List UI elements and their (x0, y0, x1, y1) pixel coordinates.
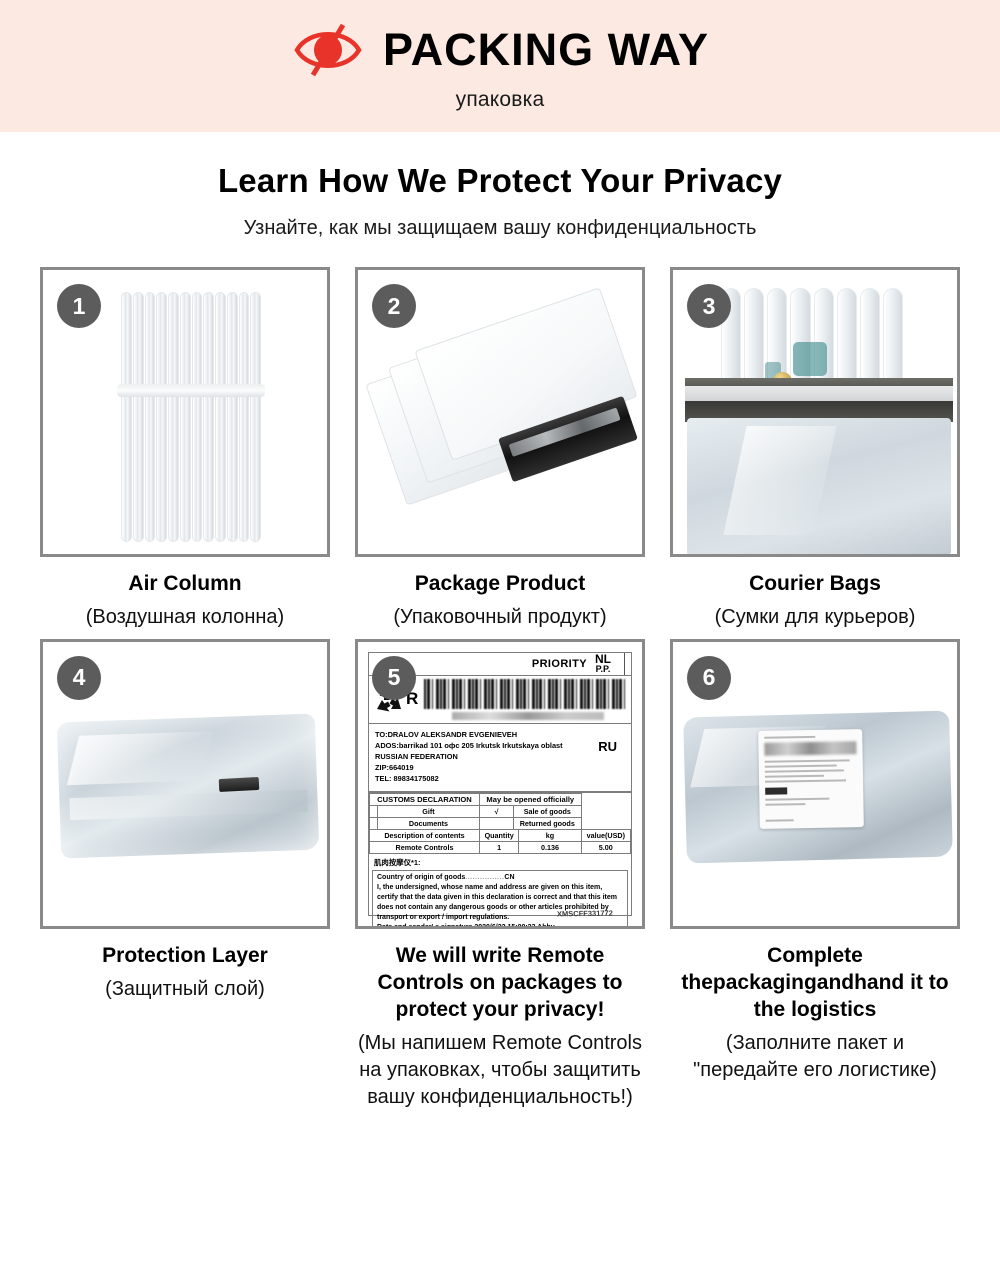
step-badge-5: 5 (372, 656, 416, 700)
declaration-line-2: certify that the data given in this decl… (377, 893, 623, 903)
label-address-row: TO:DRALOV ALEKSANDR EVGENIEVEH ADOS:barr… (369, 724, 631, 793)
step-badge-2: 2 (372, 284, 416, 328)
step-title-ru-1: (Воздушная колонна) (42, 604, 328, 631)
step-card-6: 6 (670, 639, 960, 929)
brand-title: PACKING WAY (383, 27, 709, 72)
table-row: Gift √ Sale of goods (370, 806, 631, 818)
item-quantity: 1 (479, 842, 518, 854)
tracking-overlay: XMSCFF331772 (557, 909, 613, 921)
recipient-name: TO:DRALOV ALEKSANDR EVGENIEVEH (375, 729, 594, 740)
item-description: Remote Controls (370, 842, 480, 854)
step-title-ru-2: (Упаковочный продукт) (357, 604, 643, 631)
page-header: PACKING WAY упаковка (0, 0, 1000, 132)
table-row: CUSTOMS DECLARATION May be opened offici… (370, 794, 631, 806)
gift-label: Gift (378, 806, 480, 818)
origin-label: Country of origin of goods (377, 874, 465, 881)
origin-dots: ................ (465, 874, 504, 881)
packing-way-infographic: PACKING WAY упаковка Learn How We Protec… (0, 0, 1000, 1284)
step-cell-3: 3 Courier Bags (Сумки для (670, 267, 960, 631)
step-badge-3: 3 (687, 284, 731, 328)
recipient-tel: TEL: 89834175082 (375, 773, 594, 784)
step-title-ru-6: (Заполните пакет и "передайте его логист… (672, 1030, 958, 1084)
step-cell-4: 4 Protection Layer (Защитный слой) (40, 639, 330, 1111)
step-card-5: 5 PRIORITY NL P.P. (355, 639, 645, 929)
col-quantity: Quantity (479, 830, 518, 842)
declaration-fine-print: Country of origin of goods..............… (372, 870, 628, 928)
recipient-zip: ZIP:664019 (375, 762, 594, 773)
table-row: Remote Controls 1 0.136 5.00 (370, 842, 631, 854)
table-row: Documents Returned goods (370, 818, 631, 830)
table-row: Description of contents Quantity kg valu… (370, 830, 631, 842)
documents-label: Documents (378, 818, 480, 830)
barcode-area (424, 679, 626, 720)
step-title-en-6: Complete thepackagingandhand it to the l… (672, 943, 958, 1024)
barcode-number-blurred (452, 712, 604, 720)
recipient-address: ADOS:barrikad 101 офс 205 Irkutsk Irkuts… (375, 740, 594, 762)
step-cell-2: 2 Package Product (Упаковочный продукт) (355, 267, 645, 631)
step-caption-5: We will write Remote Controls on package… (355, 929, 645, 1111)
step-card-3: 3 (670, 267, 960, 557)
ru-country-code: RU (594, 729, 625, 785)
applied-shipping-label (758, 729, 864, 829)
step-badge-6: 6 (687, 656, 731, 700)
customs-title: CUSTOMS DECLARATION (370, 794, 480, 806)
step-badge-4: 4 (57, 656, 101, 700)
step-title-ru-3: (Сумки для курьеров) (672, 604, 958, 631)
step-card-1: 1 (40, 267, 330, 557)
item-value: 5.00 (581, 842, 630, 854)
step-badge-1: 1 (57, 284, 101, 328)
chinese-item-note: 肌肉按摩仪*1: (369, 854, 631, 870)
may-be-opened: May be opened officially (479, 794, 581, 806)
intro-block: Learn How We Protect Your Privacy Узнайт… (0, 132, 1000, 240)
signature-line: Date and sender' s signature 2020/6/22 1… (377, 923, 623, 929)
customs-declaration-table: CUSTOMS DECLARATION May be opened offici… (369, 793, 631, 854)
col-kg: kg (519, 830, 581, 842)
step-cell-5: 5 PRIORITY NL P.P. (355, 639, 645, 1111)
steps-grid: 1 (40, 267, 960, 1111)
item-kg: 0.136 (519, 842, 581, 854)
no-eye-privacy-icon (291, 21, 365, 79)
nl-pp-block: NL P.P. (595, 653, 611, 675)
col-description: Description of contents (370, 830, 480, 842)
step-caption-1: Air Column (Воздушная колонна) (40, 557, 330, 631)
step-title-en-1: Air Column (42, 571, 328, 598)
step-caption-4: Protection Layer (Защитный слой) (40, 929, 330, 1003)
gift-checkmark: √ (479, 806, 513, 818)
step-caption-6: Complete thepackagingandhand it to the l… (670, 929, 960, 1084)
barcode-icon (424, 679, 626, 709)
declaration-line-1: I, the undersigned, whose name and addre… (377, 883, 623, 893)
page-title: Learn How We Protect Your Privacy (0, 162, 1000, 200)
pp-code: P.P. (595, 665, 611, 674)
step-title-ru-4: (Защитный слой) (42, 976, 328, 1003)
origin-line: Country of origin of goods..............… (377, 873, 623, 883)
step-caption-3: Courier Bags (Сумки для курьеров) (670, 557, 960, 631)
label-divider (624, 653, 625, 675)
step-title-en-2: Package Product (357, 571, 643, 598)
step-title-ru-5: (Мы напишем Remote Controls на упаковках… (357, 1030, 643, 1111)
address-block: TO:DRALOV ALEKSANDR EVGENIEVEH ADOS:barr… (375, 729, 594, 785)
returned-goods-label: Returned goods (513, 818, 581, 830)
step-title-en-4: Protection Layer (42, 943, 328, 970)
brand-subtitle: упаковка (456, 88, 545, 112)
step-card-4: 4 (40, 639, 330, 929)
sale-of-goods-label: Sale of goods (513, 806, 581, 818)
page-subtitle: Узнайте, как мы защищаем вашу конфиденци… (0, 217, 1000, 240)
step-card-2: 2 (355, 267, 645, 557)
step-cell-6: 6 (670, 639, 960, 1111)
step-title-en-3: Courier Bags (672, 571, 958, 598)
priority-text: PRIORITY (532, 658, 587, 670)
brand-row: PACKING WAY (291, 21, 709, 79)
col-value: value(USD) (581, 830, 630, 842)
step-caption-2: Package Product (Упаковочный продукт) (355, 557, 645, 631)
step-cell-1: 1 (40, 267, 330, 631)
origin-value: CN (504, 874, 514, 881)
step-title-en-5: We will write Remote Controls on package… (357, 943, 643, 1024)
